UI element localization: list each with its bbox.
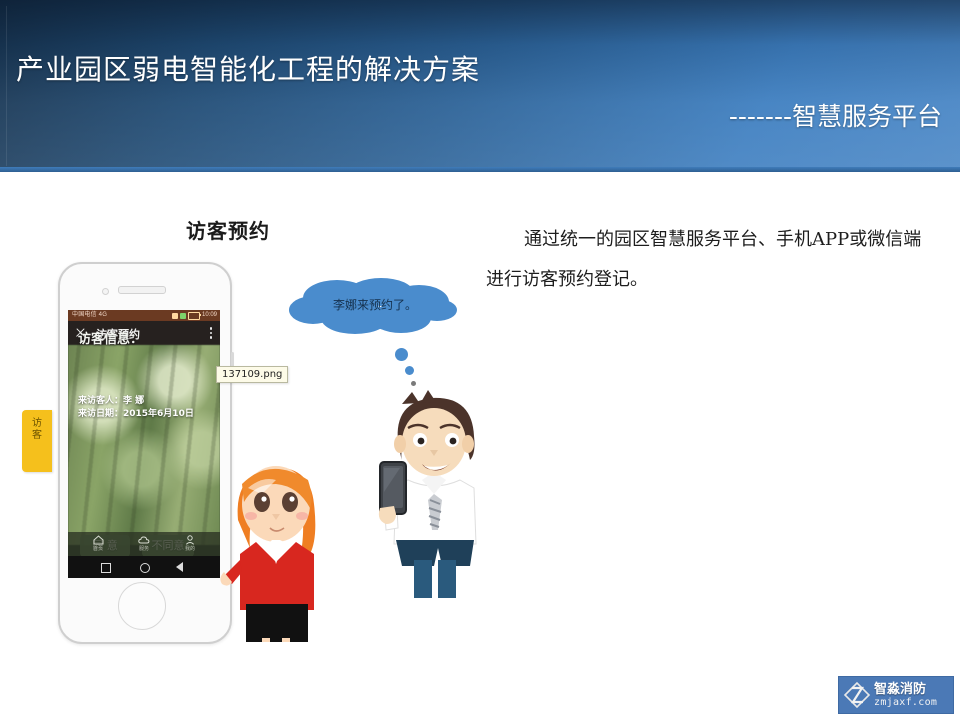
thought-dot-small: [411, 381, 416, 386]
visitor-card-title: 访客信息：: [78, 328, 143, 347]
more-vertical-icon[interactable]: [210, 327, 213, 341]
visitor-card-details: 来访客人：李 娜 来访日期：2015年6月10日: [78, 395, 194, 421]
visitor-side-tab-label: 访客: [31, 418, 43, 442]
phone-screen: 中国电信 4G 10:09 访客预约 访客信息： 来访客人：李: [68, 310, 220, 578]
body-paragraph-text: 通过统一的园区智慧服务平台、手机APP或微信端进行访客预约登记。: [486, 229, 921, 290]
visitor-side-tab[interactable]: 访客: [22, 410, 52, 472]
android-nav-bar: [68, 556, 220, 578]
thought-bubble: 李娜来预约了。: [285, 278, 465, 340]
woman-character-illustration: [218, 442, 336, 642]
user-icon: [185, 535, 195, 545]
phone-tab-bar: 首页 服务 我的: [68, 532, 220, 556]
thought-dot-medium: [405, 366, 414, 375]
tab-service[interactable]: 服务: [122, 535, 166, 552]
wifi-icon: [180, 313, 186, 319]
page-subtitle: -------智慧服务平台: [729, 97, 942, 133]
watermark-text: 智淼消防 zmjaxf.com: [874, 683, 937, 708]
photo-texture: [68, 345, 220, 545]
tab-profile[interactable]: 我的: [168, 535, 212, 552]
status-clock: 10:09: [202, 310, 217, 321]
front-camera-icon: [102, 288, 109, 295]
thought-bubble-text: 李娜来预约了。: [285, 296, 465, 313]
watermark-badge: 智淼消防 zmjaxf.com: [838, 676, 954, 714]
body-paragraph: 通过统一的园区智慧服务平台、手机APP或微信端进行访客预约登记。: [486, 220, 936, 300]
home-icon: [93, 535, 104, 545]
phone-mockup: 中国电信 4G 10:09 访客预约 访客信息： 来访客人：李: [58, 262, 232, 644]
page-title: 产业园区弱电智能化工程的解决方案: [16, 48, 480, 88]
status-indicators: 10:09: [172, 310, 217, 321]
tab-home-label: 首页: [76, 546, 120, 552]
file-name-tooltip: 137109.png: [216, 366, 288, 383]
watermark-logo-icon: [843, 681, 871, 709]
watermark-brand-en: zmjaxf.com: [874, 698, 937, 708]
recents-square-icon[interactable]: [101, 563, 111, 573]
thought-dot-large: [395, 348, 408, 361]
tab-profile-label: 我的: [168, 546, 212, 552]
phone-status-bar: 中国电信 4G 10:09: [68, 310, 220, 321]
home-circle-icon[interactable]: [140, 563, 150, 573]
slide-canvas: 产业园区弱电智能化工程的解决方案 -------智慧服务平台 访客预约 通过统一…: [0, 0, 960, 720]
visitor-card-photo: [68, 345, 220, 545]
tab-service-label: 服务: [122, 546, 166, 552]
header-bottom-edge: [0, 167, 960, 172]
section-heading: 访客预约: [186, 215, 270, 244]
watermark-brand-cn: 智淼消防: [874, 683, 937, 696]
visitor-name-line: 来访客人：李 娜: [78, 395, 194, 408]
cloud-icon: [138, 535, 150, 545]
tab-home[interactable]: 首页: [76, 535, 120, 552]
earpiece-speaker: [118, 286, 166, 294]
battery-icon: [188, 312, 200, 320]
home-button[interactable]: [118, 582, 166, 630]
visit-date-line: 来访日期：2015年6月10日: [78, 408, 194, 421]
back-triangle-icon[interactable]: [176, 562, 183, 572]
slide-header: 产业园区弱电智能化工程的解决方案 -------智慧服务平台: [0, 0, 960, 172]
status-carrier-label: 中国电信 4G: [72, 310, 107, 321]
man-character-illustration: [378, 388, 490, 598]
signal-icon: [172, 313, 178, 319]
